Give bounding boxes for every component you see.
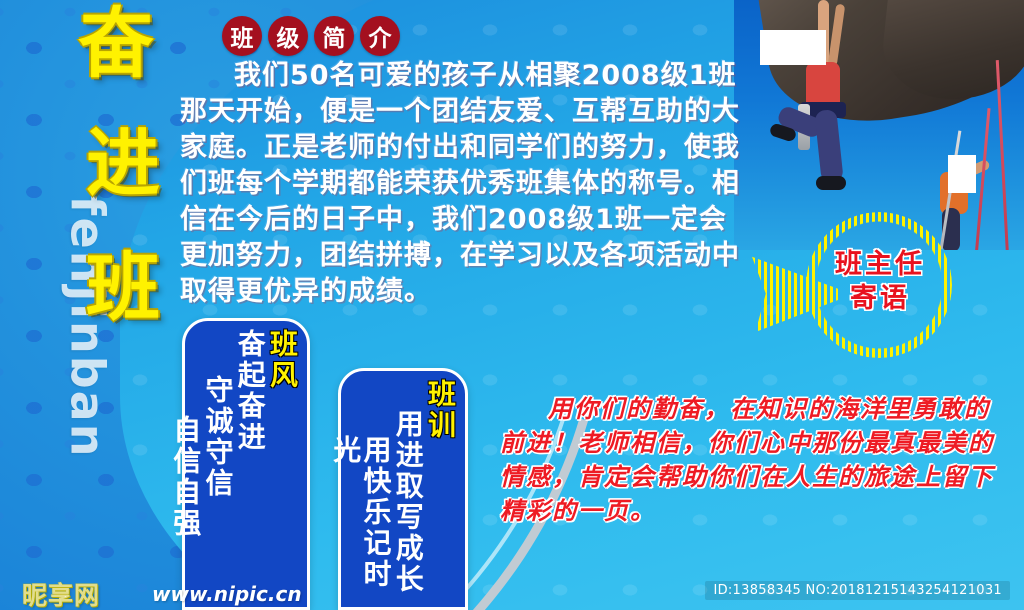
teacher-bubble-line-2: 寄语 xyxy=(812,282,948,316)
teacher-message-text: 用你们的勤奋，在知识的海洋里勇敢的前进！老师相信，你们心中那份最真最美的情感，肯… xyxy=(500,392,1012,528)
teacher-message-bubble-label: 班主任 寄语 xyxy=(812,248,948,316)
headline-char-2: 进 xyxy=(86,104,160,211)
title-badge-char-1: 班 xyxy=(222,16,262,56)
class-ethos-panel: 班风 奋起奋进 守诚守信 自信自强 xyxy=(182,318,310,610)
teacher-bubble-line-1: 班主任 xyxy=(812,248,948,282)
class-introduction-text: 我们50名可爱的孩子从相聚2008级1班那天开始，便是一个团结友爱、互帮互助的大… xyxy=(180,58,740,310)
section-title-badge: 班 级 简 介 xyxy=(222,16,400,56)
watermark-bar: 昵享网 www.nipic.cn ID:13858345 NO:20181215… xyxy=(0,572,1024,610)
redaction-box-secondary xyxy=(948,155,976,193)
headline-char-3: 班 xyxy=(86,228,160,335)
watermark-logo: 昵享网 xyxy=(22,576,100,610)
watermark-url: www.nipic.cn xyxy=(152,582,302,606)
watermark-id-text: ID:13858345 NO:20181215143254121031 xyxy=(705,581,1010,600)
climber-right-shoe-icon xyxy=(816,176,846,190)
redaction-box-primary xyxy=(760,30,826,65)
climber-right-leg-icon xyxy=(814,109,843,183)
poster-canvas: 奋 进 班 fenjinban 班 级 简 介 我们50名可爱的孩子从相聚200… xyxy=(0,0,1024,610)
title-badge-char-4: 介 xyxy=(360,16,400,56)
headline-char-1: 奋 xyxy=(78,0,154,92)
title-badge-char-2: 级 xyxy=(268,16,308,56)
class-ethos-column-1: 奋起奋进 xyxy=(235,329,265,607)
title-badge-char-3: 简 xyxy=(314,16,354,56)
climber-arm-secondary-icon xyxy=(828,4,846,67)
class-ethos-heading: 班风 xyxy=(267,329,297,607)
